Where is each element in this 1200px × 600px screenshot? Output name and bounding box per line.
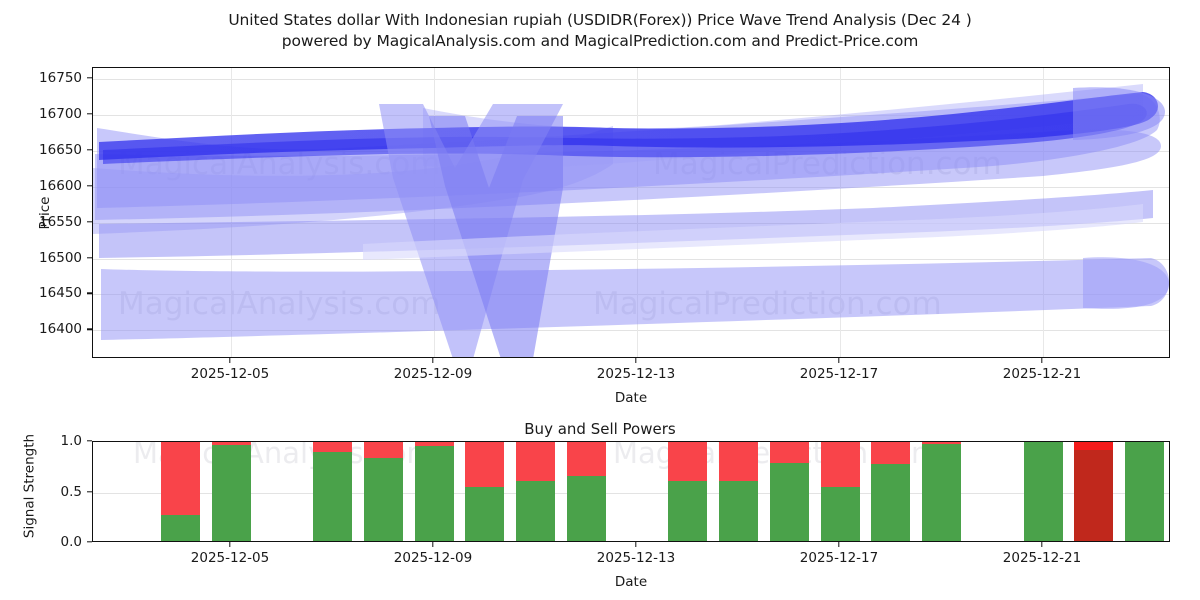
ytick-16650: 16650 — [0, 142, 82, 158]
title-line-1: United States dollar With Indonesian rup… — [0, 10, 1200, 31]
xtick-2025-12-09: 2025-12-09 — [394, 366, 472, 382]
xtick-mark-2025-12-17 — [838, 358, 839, 363]
xtick-2025-12-21: 2025-12-21 — [1003, 366, 1081, 382]
xtick-2025-12-05: 2025-12-05 — [191, 366, 269, 382]
bar-buy-segment[interactable] — [567, 476, 606, 542]
chart-page: United States dollar With Indonesian rup… — [0, 0, 1200, 600]
ytick-mark-1.0 — [87, 440, 92, 441]
sub-xtick-mark-2025-12-21 — [1041, 542, 1042, 547]
bar-buy-segment[interactable] — [415, 446, 454, 542]
ytick-mark-16550 — [87, 221, 92, 222]
bar-group[interactable] — [1074, 442, 1113, 542]
sub-xtick-mark-2025-12-17 — [838, 542, 839, 547]
bar-sell-segment[interactable] — [567, 442, 606, 476]
buy-sell-powers-chart: MagicalAnalysis.com MagicalPrediction.co… — [92, 441, 1170, 542]
bar-group[interactable] — [871, 442, 910, 542]
xtick-mark-2025-12-13 — [635, 358, 636, 363]
sub-x-axis-title: Date — [615, 574, 647, 590]
ytick-0.5: 0.5 — [0, 484, 82, 500]
bar-sell-segment[interactable] — [516, 442, 555, 481]
bar-group[interactable] — [770, 442, 809, 542]
bar-group[interactable] — [567, 442, 606, 542]
ytick-mark-16450 — [87, 293, 92, 294]
wave-band-group — [93, 68, 1170, 358]
bar-group[interactable] — [1125, 442, 1164, 542]
bar-buy-segment[interactable] — [465, 487, 504, 542]
sub-xtick-mark-2025-12-09 — [432, 542, 433, 547]
ytick-1.0: 1.0 — [0, 433, 82, 449]
sub-xtick-2025-12-13: 2025-12-13 — [597, 550, 675, 566]
bar-sell-segment[interactable] — [871, 442, 910, 464]
bar-buy-segment[interactable] — [871, 464, 910, 542]
ytick-mark-0.5 — [87, 491, 92, 492]
bar-buy-segment[interactable] — [313, 452, 352, 542]
bar-group[interactable] — [1024, 442, 1063, 542]
ytick-16700: 16700 — [0, 106, 82, 122]
bar-group[interactable] — [415, 442, 454, 542]
bar-group[interactable] — [668, 442, 707, 542]
xtick-mark-2025-12-05 — [229, 358, 230, 363]
ytick-mark-16750 — [87, 77, 92, 78]
ytick-16400: 16400 — [0, 321, 82, 337]
bar-sell-segment[interactable] — [313, 442, 352, 452]
bar-group[interactable] — [922, 442, 961, 542]
bar-buy-segment[interactable] — [668, 481, 707, 542]
bar-buy-segment[interactable] — [161, 515, 200, 542]
bar-buy-segment[interactable] — [821, 487, 860, 542]
bar-group[interactable] — [161, 442, 200, 542]
bar-buy-segment[interactable] — [364, 458, 403, 542]
bar-group[interactable] — [719, 442, 758, 542]
xtick-mark-2025-12-21 — [1041, 358, 1042, 363]
bar-buy-segment[interactable] — [1024, 442, 1063, 542]
ytick-mark-16500 — [87, 257, 92, 258]
ytick-mark-0.0 — [87, 541, 92, 542]
price-wave-chart: MagicalAnalysis.com MagicalPrediction.co… — [92, 67, 1170, 358]
ytick-mark-16650 — [87, 149, 92, 150]
gridline-y-0.5 — [93, 493, 1169, 494]
bar-buy-segment[interactable] — [1125, 442, 1164, 542]
ytick-mark-16700 — [87, 113, 92, 114]
bar-sell-segment[interactable] — [465, 442, 504, 487]
ytick-16450: 16450 — [0, 285, 82, 301]
bar-buy-segment[interactable] — [212, 445, 251, 542]
sub-xtick-mark-2025-12-05 — [229, 542, 230, 547]
bar-buy-segment[interactable] — [770, 463, 809, 542]
bar-group[interactable] — [313, 442, 352, 542]
sub-y-axis-title: Signal Strength — [22, 429, 38, 544]
ytick-mark-16400 — [87, 329, 92, 330]
sub-xtick-2025-12-09: 2025-12-09 — [394, 550, 472, 566]
bar-group[interactable] — [465, 442, 504, 542]
sub-xtick-2025-12-05: 2025-12-05 — [191, 550, 269, 566]
bar-buy-segment[interactable] — [922, 444, 961, 542]
sub-xtick-mark-2025-12-13 — [635, 542, 636, 547]
bar-sell-segment[interactable] — [668, 442, 707, 481]
page-title: United States dollar With Indonesian rup… — [0, 10, 1200, 52]
bar-sell-segment[interactable] — [821, 442, 860, 487]
bar-sell-bright-segment[interactable] — [1074, 442, 1113, 450]
bar-sell-segment[interactable] — [770, 442, 809, 463]
xtick-2025-12-13: 2025-12-13 — [597, 366, 675, 382]
bar-sell-segment[interactable] — [161, 442, 200, 515]
bar-group[interactable] — [516, 442, 555, 542]
ytick-16750: 16750 — [0, 70, 82, 86]
xtick-2025-12-17: 2025-12-17 — [800, 366, 878, 382]
bar-buy-segment[interactable] — [719, 481, 758, 542]
wave-lower-support-band — [101, 258, 1169, 340]
main-x-axis-title: Date — [615, 390, 647, 406]
subplot-title: Buy and Sell Powers — [0, 420, 1200, 438]
bar-sell-segment[interactable] — [364, 442, 403, 458]
title-line-2: powered by MagicalAnalysis.com and Magic… — [0, 31, 1200, 52]
xtick-mark-2025-12-09 — [432, 358, 433, 363]
bar-sell-dark-segment[interactable] — [1074, 450, 1113, 542]
sub-xtick-2025-12-21: 2025-12-21 — [1003, 550, 1081, 566]
bar-buy-segment[interactable] — [516, 481, 555, 542]
bar-group[interactable] — [364, 442, 403, 542]
ytick-mark-16600 — [87, 185, 92, 186]
ytick-0.0: 0.0 — [0, 534, 82, 550]
bar-group[interactable] — [821, 442, 860, 542]
main-y-axis-title: Price — [37, 163, 53, 263]
bar-group[interactable] — [212, 442, 251, 542]
bar-sell-segment[interactable] — [719, 442, 758, 481]
sub-xtick-2025-12-17: 2025-12-17 — [800, 550, 878, 566]
